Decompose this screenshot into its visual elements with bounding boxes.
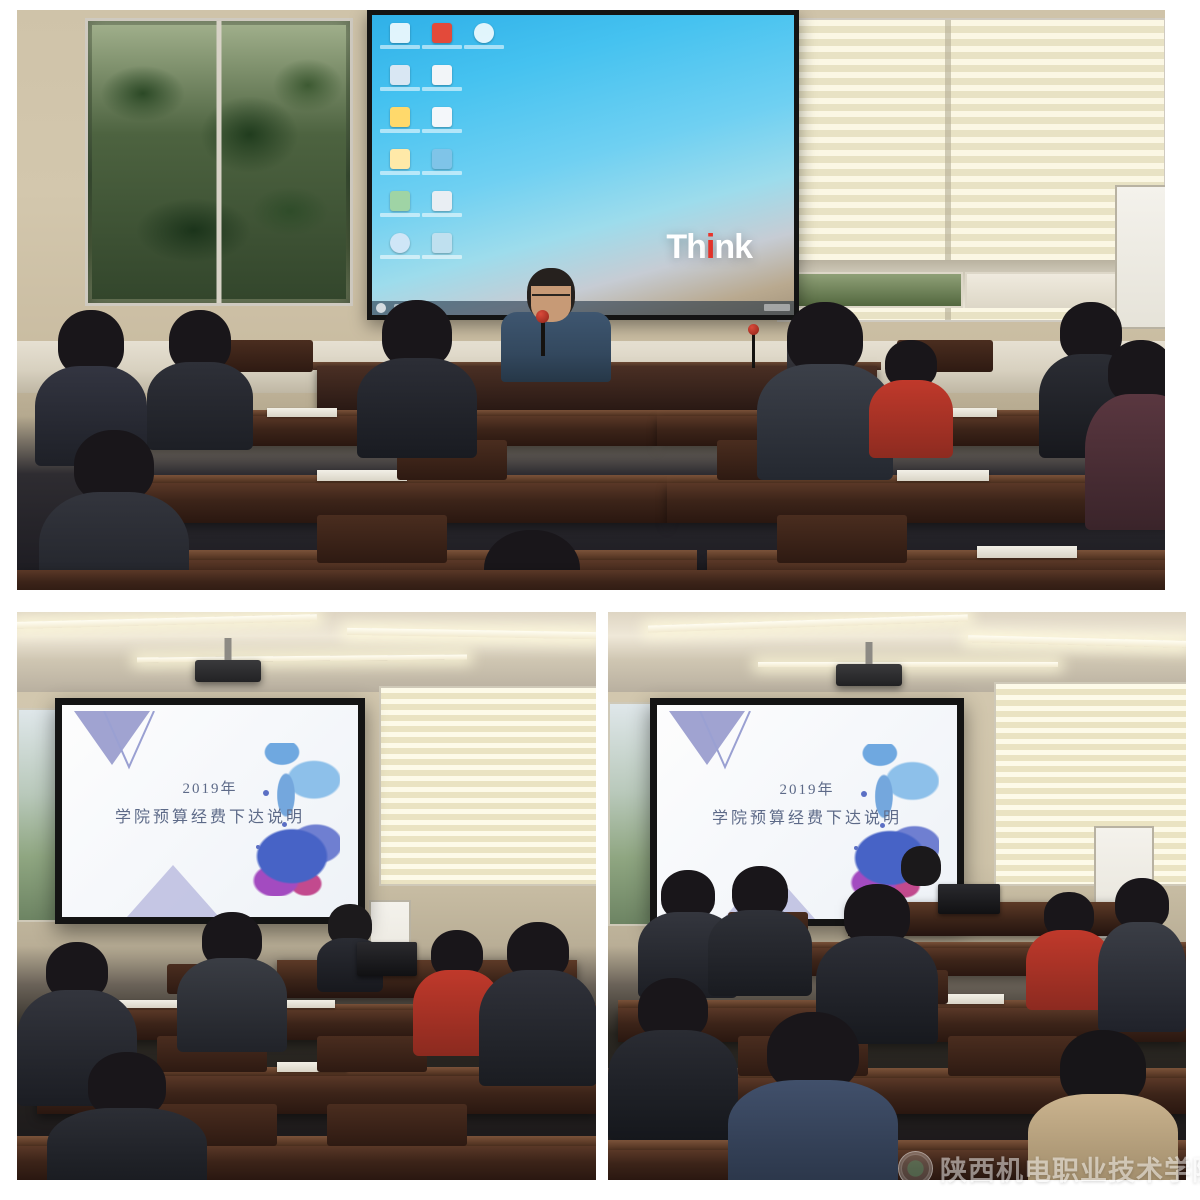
- desktop-icon: [380, 23, 420, 63]
- slide-year: 2019年: [657, 778, 957, 799]
- attendee: [47, 1052, 207, 1180]
- presentation-slide: 2019年 学院预算经费下达说明: [62, 705, 358, 917]
- thinkpad-logo: Think: [666, 228, 752, 267]
- speaker-glasses: [532, 294, 570, 303]
- left-window: [85, 18, 353, 306]
- photo-collage: Think: [0, 0, 1200, 1200]
- desktop-icon: [422, 191, 462, 231]
- chair-back: [317, 1036, 427, 1072]
- ceiling-light: [758, 662, 1058, 667]
- slide-title: 学院预算经费下达说明: [657, 804, 957, 828]
- attendee: [608, 978, 738, 1128]
- attendee: [147, 310, 253, 440]
- slide-title-block: 2019年 学院预算经费下达说明: [62, 777, 358, 827]
- photo-wide-meeting-room[interactable]: Think: [17, 10, 1165, 590]
- slide-year: 2019年: [62, 777, 358, 798]
- laptop: [357, 942, 417, 976]
- attendee: [357, 300, 477, 450]
- front-bench: [17, 570, 1165, 590]
- attendee: [1098, 878, 1186, 1028]
- desktop-icon: [380, 149, 420, 189]
- document-on-desk: [267, 408, 337, 417]
- document-on-desk: [977, 546, 1077, 558]
- window-blinds: [994, 682, 1186, 886]
- desktop-icon: [422, 23, 462, 63]
- attendee: [1085, 340, 1165, 520]
- slide-triangle-outline: [100, 711, 158, 773]
- desktop-icon: [464, 23, 504, 63]
- projection-screen: 2019年 学院预算经费下达说明: [55, 698, 365, 924]
- window-blinds: [379, 686, 596, 886]
- photo-bottom-left-presentation[interactable]: 2019年 学院预算经费下达说明: [17, 612, 596, 1180]
- desktop-icon-grid: [380, 19, 476, 289]
- desktop-icon: [380, 191, 420, 231]
- second-microphone: [752, 332, 755, 368]
- thinkpad-logo-text: Think: [666, 228, 752, 266]
- attendee: [39, 430, 189, 590]
- slide-title-block: 2019年 学院预算经费下达说明: [657, 778, 957, 828]
- document-on-desk: [897, 470, 989, 481]
- desktop-icon: [380, 233, 420, 273]
- desktop-icon: [380, 65, 420, 105]
- attendee: [177, 912, 287, 1042]
- window-foliage: [92, 25, 346, 299]
- document-on-desk: [317, 470, 407, 481]
- slide-triangle-outline: [696, 711, 754, 773]
- desktop-icon: [422, 233, 462, 273]
- attendee: [479, 922, 596, 1082]
- microphone-head: [536, 310, 549, 323]
- laptop: [938, 884, 1000, 914]
- desktop-icon: [380, 107, 420, 147]
- desktop-icon: [422, 65, 462, 105]
- attendee: [1028, 1030, 1178, 1180]
- ceiling-projector: [195, 660, 261, 682]
- desktop-icon: [422, 107, 462, 147]
- chair-back: [327, 1104, 467, 1146]
- attendee-red: [869, 340, 953, 450]
- desktop-icon: [422, 149, 462, 189]
- slide-triangle-bottom: [127, 865, 219, 917]
- ceiling-projector: [836, 664, 902, 686]
- chair-back: [777, 515, 907, 563]
- speaker-person: [501, 268, 611, 378]
- attendee: [728, 1012, 898, 1180]
- photo-bottom-right-presentation[interactable]: 2019年 学院预算经费下达说明: [608, 612, 1186, 1180]
- chair-back: [317, 515, 447, 563]
- slide-title: 学院预算经费下达说明: [62, 803, 358, 827]
- attendee: [708, 866, 812, 986]
